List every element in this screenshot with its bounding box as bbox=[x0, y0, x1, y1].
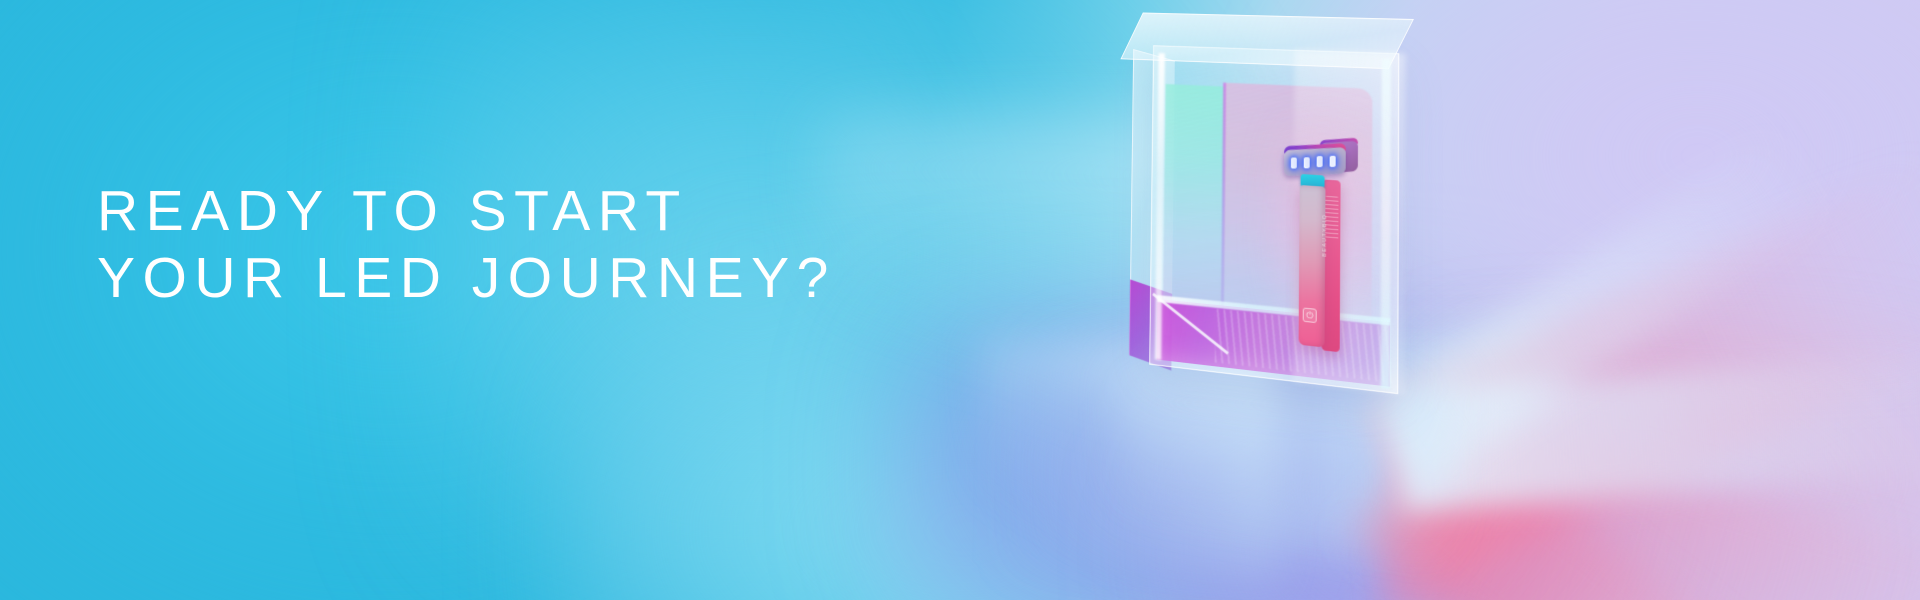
hero-banner: READY TO START YOUR LED JOURNEY? bbox=[0, 0, 1920, 600]
headline-line-2: YOUR LED JOURNEY? bbox=[97, 245, 836, 312]
headline: READY TO START YOUR LED JOURNEY? bbox=[97, 178, 836, 312]
acrylic-display-box: BEAUTYBIO ⏻ bbox=[1149, 45, 1399, 394]
product-display: BEAUTYBIO ⏻ bbox=[1120, 20, 1500, 480]
headline-line-1: READY TO START bbox=[97, 178, 836, 245]
